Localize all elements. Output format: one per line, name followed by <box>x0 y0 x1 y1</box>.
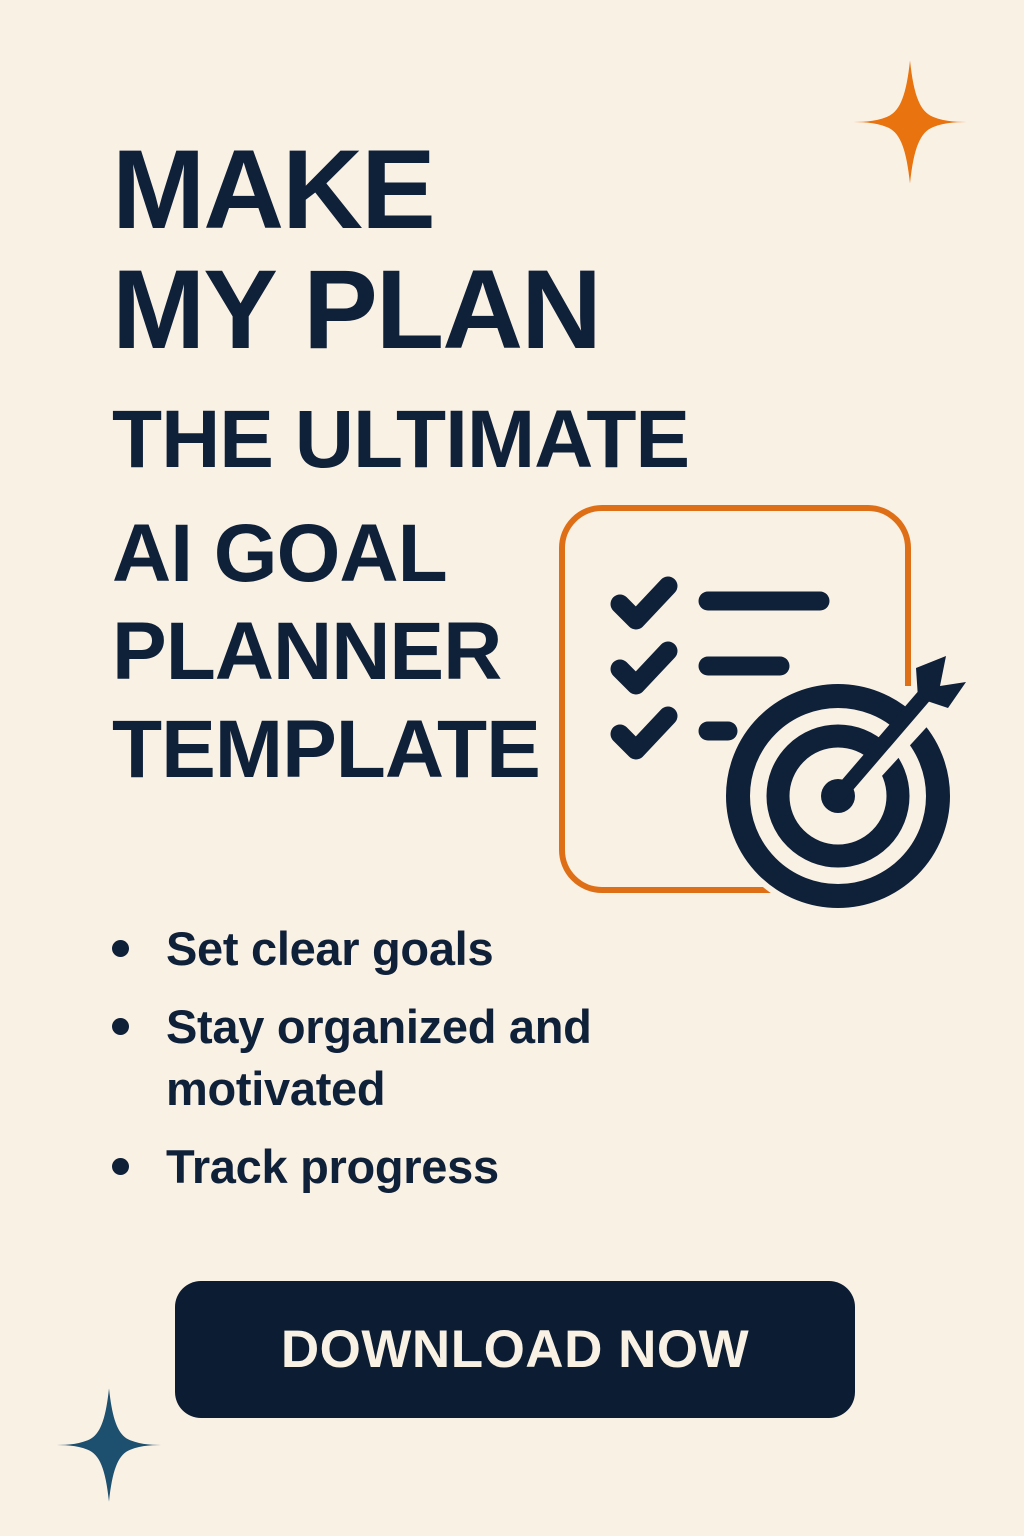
benefits-list: Set clear goals Stay organized and motiv… <box>112 918 812 1214</box>
headline-block: MAKE MY PLAN THE ULTIMATE AI GOAL PLANNE… <box>112 128 912 798</box>
bullet-dot-icon <box>112 1018 129 1035</box>
headline-line-2: MY PLAN <box>112 248 912 372</box>
headline-line-3: THE ULTIMATE <box>112 392 912 488</box>
list-item: Set clear goals <box>112 918 812 980</box>
bullet-dot-icon <box>112 940 129 957</box>
benefit-label: Set clear goals <box>166 918 493 980</box>
promo-poster: MAKE MY PLAN THE ULTIMATE AI GOAL PLANNE… <box>0 0 1024 1536</box>
bullet-dot-icon <box>112 1158 129 1175</box>
download-now-label: DOWNLOAD NOW <box>281 1319 749 1380</box>
headline-line-5: PLANNER <box>112 604 912 700</box>
list-item: Stay organized and motivated <box>112 996 812 1120</box>
headline-line-4: AI GOAL <box>112 506 912 602</box>
benefit-label: Track progress <box>166 1136 499 1198</box>
download-now-button[interactable]: DOWNLOAD NOW <box>175 1281 855 1418</box>
headline-line-6: TEMPLATE <box>112 702 912 798</box>
headline-line-1: MAKE <box>112 128 912 252</box>
benefit-label: Stay organized and motivated <box>166 996 746 1120</box>
sparkle-star-icon <box>50 1386 168 1504</box>
list-item: Track progress <box>112 1136 812 1198</box>
